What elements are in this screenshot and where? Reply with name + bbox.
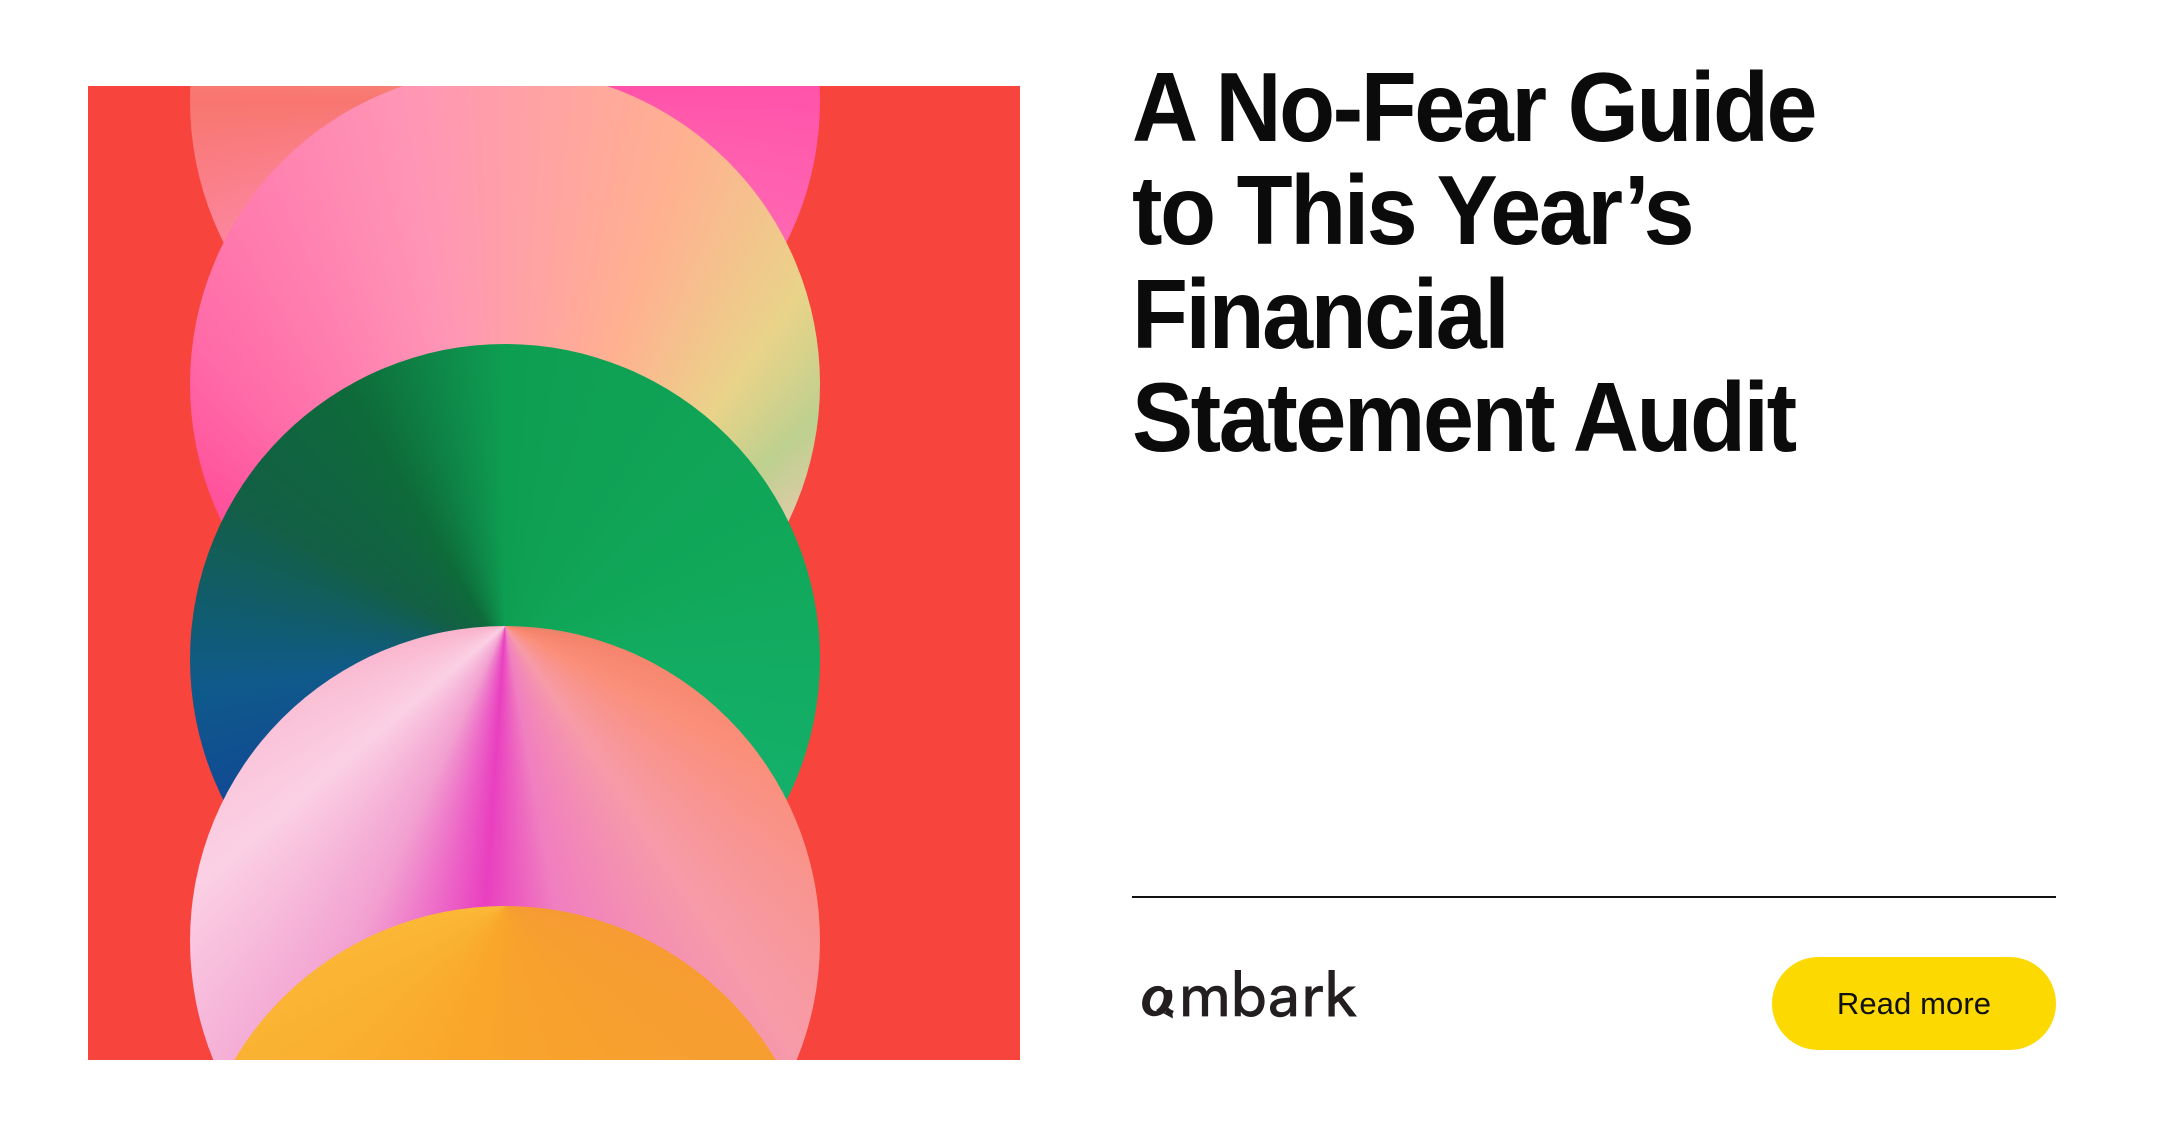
artwork-panel: [88, 86, 1020, 1060]
content-column: A No-Fear Guide to This Year’s Financial…: [1132, 0, 2056, 1134]
page-title: A No-Fear Guide to This Year’s Financial…: [1132, 56, 1996, 470]
embark-logo[interactable]: embark: [1132, 962, 1382, 1034]
read-more-button[interactable]: Read more: [1772, 957, 2056, 1050]
social-card: A No-Fear Guide to This Year’s Financial…: [0, 0, 2166, 1134]
divider: [1132, 896, 2056, 898]
